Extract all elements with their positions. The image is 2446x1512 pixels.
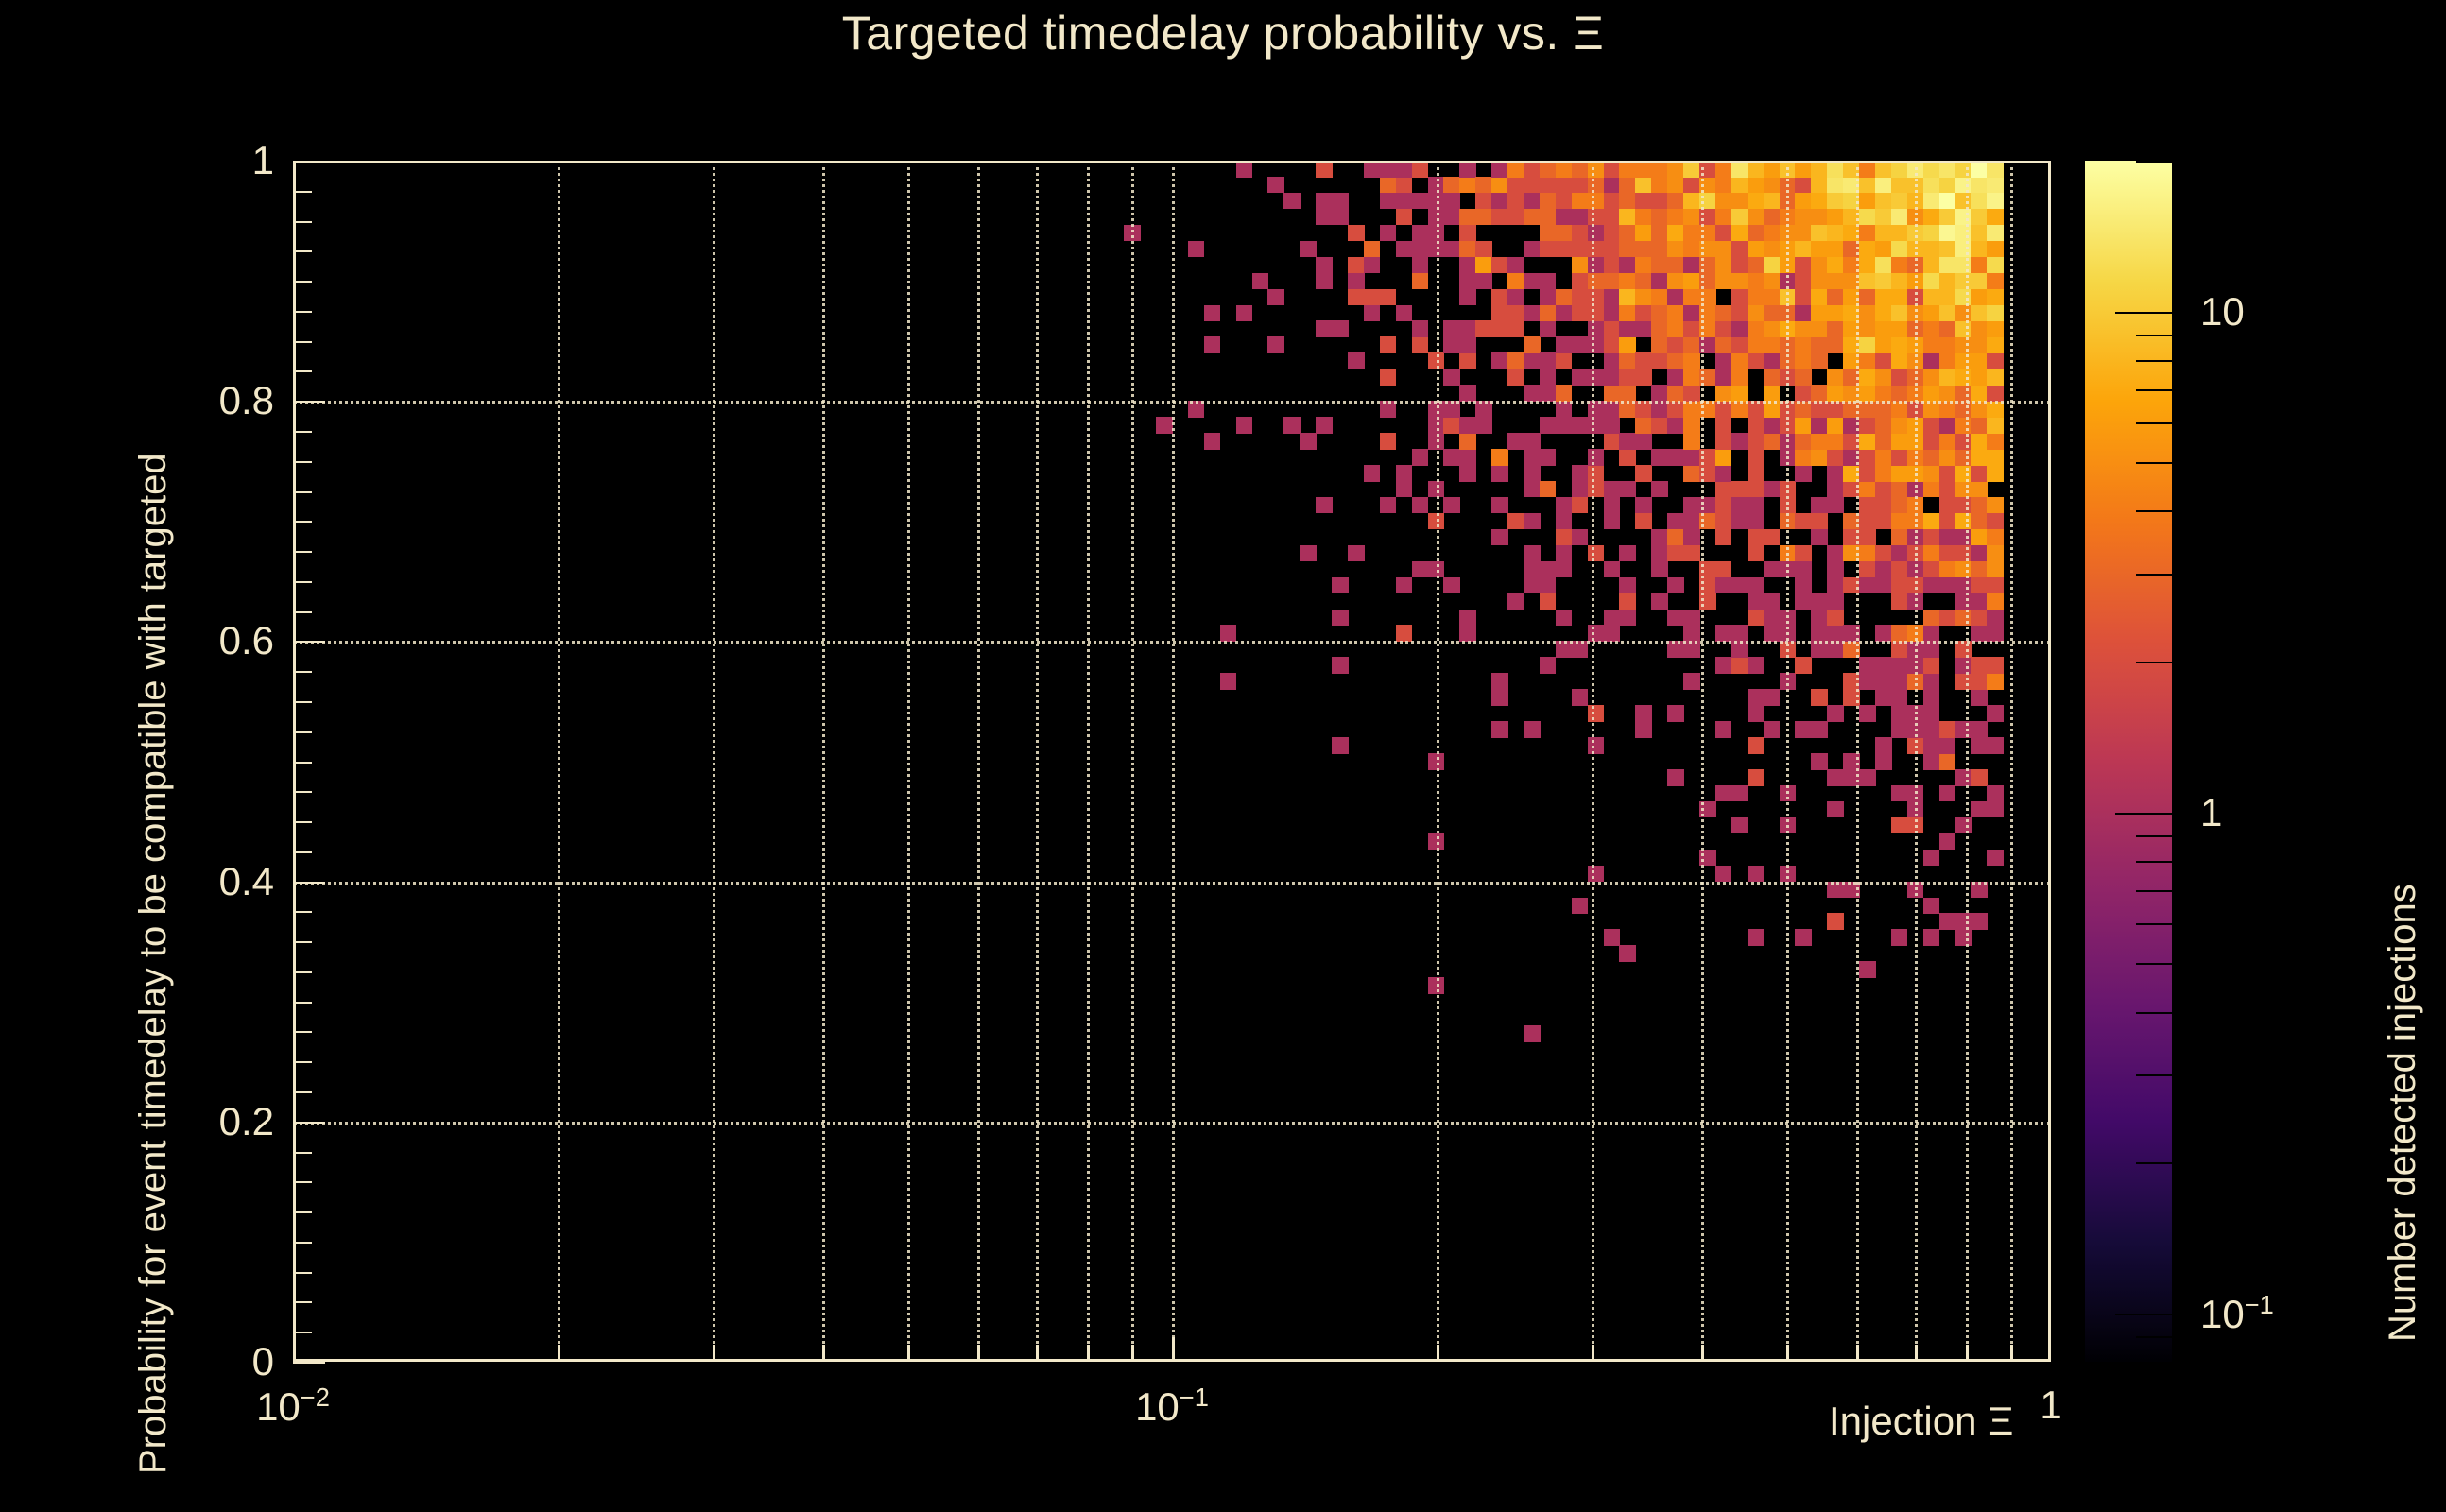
heatmap-cell (1715, 352, 1732, 369)
heatmap-cell (1764, 593, 1781, 610)
y-axis-tick (293, 1272, 312, 1274)
heatmap-cell (1811, 289, 1828, 306)
heatmap-cell (1827, 801, 1844, 818)
heatmap-cell (1540, 177, 1557, 194)
heatmap-cell (1588, 193, 1605, 210)
heatmap-cell (1588, 289, 1605, 306)
heatmap-cell (1971, 433, 1988, 450)
heatmap-cell (1412, 449, 1429, 466)
heatmap-cell (1827, 209, 1844, 226)
heatmap-cell (1731, 177, 1748, 194)
heatmap-cell (1987, 369, 2004, 386)
heatmap-cell (1875, 352, 1892, 369)
heatmap-cell (1891, 193, 1908, 210)
heatmap-cell (1891, 241, 1908, 258)
heatmap-cell (1491, 305, 1508, 322)
plot-canvas: Targeted timedelay probability vs. Ξ Pro… (0, 0, 2446, 1512)
heatmap-cell (1332, 209, 1349, 226)
heatmap-cell (1204, 305, 1221, 322)
heatmap-cell (1667, 369, 1684, 386)
heatmap-cell (1859, 385, 1876, 402)
heatmap-cell (1715, 225, 1732, 242)
heatmap-cell (1987, 352, 2004, 369)
heatmap-cell (1987, 513, 2004, 530)
heatmap-cell (1572, 417, 1589, 434)
colorbar-tick-label: 10 (2200, 289, 2245, 335)
y-axis-tick (293, 941, 312, 943)
y-axis-tick (293, 1242, 312, 1244)
heatmap-cell (1875, 545, 1892, 562)
heatmap-cell (1683, 177, 1700, 194)
heatmap-cell (1859, 369, 1876, 386)
heatmap-cell (1827, 465, 1844, 482)
heatmap-cell (1683, 336, 1700, 353)
heatmap-cell (1827, 241, 1844, 258)
heatmap-cell (1987, 465, 2004, 482)
heatmap-cell (1811, 352, 1828, 369)
y-axis-tick (293, 1301, 312, 1303)
heatmap-cell (1491, 209, 1508, 226)
heatmap-cell (1731, 785, 1748, 802)
heatmap-cell (1715, 369, 1732, 386)
colorbar-tick (2136, 422, 2172, 424)
heatmap-cell (1891, 257, 1908, 274)
heatmap-cell (1827, 625, 1844, 642)
heatmap-cell (1875, 433, 1892, 450)
heatmap-cell (1939, 209, 1956, 226)
heatmap-cell (1459, 336, 1476, 353)
heatmap-cell (1619, 305, 1636, 322)
heatmap-cell (1923, 657, 1940, 674)
heatmap-cell (1811, 593, 1828, 610)
heatmap-cell (1971, 593, 1988, 610)
heatmap-cell (1667, 305, 1684, 322)
heatmap-cell (1667, 273, 1684, 290)
y-axis-tick (293, 581, 312, 583)
heatmap-cell (1651, 273, 1668, 290)
colorbar-tick (2136, 574, 2172, 576)
heatmap-cell (1332, 577, 1349, 594)
heatmap-cell (1651, 561, 1668, 578)
heatmap-cell (1683, 625, 1700, 642)
heatmap-cell (1987, 177, 2004, 194)
heatmap-cell (1764, 352, 1781, 369)
heatmap-cell (1731, 257, 1748, 274)
heatmap-cell (1811, 497, 1828, 514)
heatmap-cell (1588, 481, 1605, 498)
heatmap-cell (1939, 225, 1956, 242)
grid-line-vertical (1701, 161, 1704, 1362)
heatmap-cell (1811, 433, 1828, 450)
heatmap-cell (1715, 866, 1732, 883)
heatmap-cell (1651, 449, 1668, 466)
heatmap-cell (1955, 305, 1972, 322)
heatmap-cell (1635, 513, 1652, 530)
heatmap-cell (1923, 753, 1940, 770)
heatmap-cell (1651, 352, 1668, 369)
heatmap-cell (1731, 625, 1748, 642)
heatmap-cell (1572, 898, 1589, 915)
heatmap-cell (1459, 273, 1476, 290)
heatmap-cell (1491, 289, 1508, 306)
heatmap-cell (1859, 305, 1876, 322)
heatmap-cell (1971, 449, 1988, 466)
colorbar-tick (2136, 360, 2172, 362)
heatmap-cell (1764, 209, 1781, 226)
heatmap-cell (1524, 336, 1541, 353)
heatmap-cell (1955, 481, 1972, 498)
heatmap-cell (1748, 866, 1765, 883)
heatmap-cell (1507, 305, 1524, 322)
heatmap-cell (1971, 289, 1988, 306)
heatmap-cell (1748, 497, 1765, 514)
heatmap-cell (1795, 593, 1812, 610)
heatmap-cell (1667, 320, 1684, 337)
heatmap-cell (1891, 929, 1908, 946)
heatmap-cell (1283, 193, 1301, 210)
heatmap-cell (1827, 193, 1844, 210)
heatmap-cell (1651, 529, 1668, 546)
heatmap-cell (1795, 209, 1812, 226)
heatmap-cell (1507, 177, 1524, 194)
heatmap-cell (1619, 273, 1636, 290)
heatmap-cell (1348, 257, 1365, 274)
heatmap-cell (1683, 320, 1700, 337)
heatmap-cell (1267, 289, 1284, 306)
heatmap-cell (1635, 721, 1652, 738)
heatmap-cell (1748, 657, 1765, 674)
heatmap-cell (1683, 305, 1700, 322)
heatmap-cell (1811, 449, 1828, 466)
heatmap-cell (1987, 657, 2004, 674)
heatmap-cell (1604, 481, 1621, 498)
heatmap-cell (1971, 769, 1988, 786)
heatmap-cell (1795, 433, 1812, 450)
y-tick-label: 0.4 (123, 859, 274, 904)
heatmap-cell (1412, 257, 1429, 274)
heatmap-cell (1764, 625, 1781, 642)
heatmap-cell (1955, 673, 1972, 690)
heatmap-cell (1667, 529, 1684, 546)
heatmap-cell (1923, 336, 1940, 353)
heatmap-cell (1827, 577, 1844, 594)
heatmap-cell (1971, 721, 1988, 738)
heatmap-cell (1987, 209, 2004, 226)
x-tick-label: 10−2 (256, 1383, 330, 1430)
heatmap-cell (1859, 545, 1876, 562)
heatmap-cell (1827, 610, 1844, 627)
colorbar-tick (2136, 389, 2172, 391)
heatmap-cell (1412, 497, 1429, 514)
heatmap-cell (1827, 177, 1844, 194)
heatmap-cell (1875, 273, 1892, 290)
heatmap-cell (1651, 481, 1668, 498)
heatmap-cell (1540, 481, 1557, 498)
heatmap-cell (1891, 497, 1908, 514)
y-axis-tick (293, 762, 312, 764)
heatmap-cell (1283, 417, 1301, 434)
heatmap-cell (1396, 305, 1413, 322)
heatmap-cell (1955, 417, 1972, 434)
heatmap-cell (1459, 385, 1476, 402)
heatmap-cell (1731, 320, 1748, 337)
heatmap-cell (1923, 673, 1940, 690)
heatmap-cell (1811, 513, 1828, 530)
axis-right (2048, 161, 2051, 1362)
heatmap-cell (1459, 209, 1476, 226)
heatmap-cell (1475, 273, 1492, 290)
heatmap-cell (1604, 385, 1621, 402)
heatmap-cell (1667, 352, 1684, 369)
heatmap-cell (1588, 417, 1605, 434)
heatmap-cell (1588, 545, 1605, 562)
heatmap-cell (1619, 336, 1636, 353)
heatmap-cell (1748, 352, 1765, 369)
heatmap-cell (1540, 289, 1557, 306)
heatmap-cell (1715, 449, 1732, 466)
heatmap-cell (1619, 577, 1636, 594)
heatmap-cell (1891, 336, 1908, 353)
heatmap-cell (1556, 513, 1573, 530)
heatmap-cell (1748, 225, 1765, 242)
heatmap-cell (1683, 257, 1700, 274)
colorbar-tick (2136, 963, 2172, 965)
heatmap-cell (1748, 929, 1765, 946)
heatmap-cell (1764, 481, 1781, 498)
heatmap-cell (1939, 610, 1956, 627)
heatmap-cell (1667, 449, 1684, 466)
heatmap-cell (1811, 385, 1828, 402)
heatmap-cell (1955, 177, 1972, 194)
heatmap-cell (1955, 561, 1972, 578)
heatmap-cell (1955, 385, 1972, 402)
heatmap-cell (1683, 545, 1700, 562)
colorbar-tick-label: 10−1 (2200, 1290, 2274, 1337)
heatmap-cell (1987, 737, 2004, 754)
heatmap-cell (1827, 433, 1844, 450)
heatmap-cell (1731, 209, 1748, 226)
heatmap-cell (1987, 241, 2004, 258)
y-tick-label: 0.8 (123, 378, 274, 423)
heatmap-cell (1635, 433, 1652, 450)
grid-line-vertical (1172, 161, 1175, 1362)
heatmap-cell (1939, 785, 1956, 802)
heatmap-cell (1316, 273, 1333, 290)
heatmap-cell (1827, 769, 1844, 786)
x-tick-label: 10−1 (1135, 1383, 1209, 1430)
heatmap-cell (1764, 241, 1781, 258)
heatmap-cell (1971, 417, 1988, 434)
heatmap-cell (1443, 177, 1460, 194)
heatmap-cell (1507, 193, 1524, 210)
heatmap-cell (1923, 737, 1940, 754)
heatmap-cell (1875, 417, 1892, 434)
heatmap-cell (1891, 289, 1908, 306)
heatmap-cell (1635, 352, 1652, 369)
heatmap-cell (1891, 320, 1908, 337)
heatmap-cell (1396, 465, 1413, 482)
grid-line-vertical (1966, 161, 1969, 1362)
heatmap-cell (1859, 209, 1876, 226)
heatmap-cell (1443, 449, 1460, 466)
heatmap-cell (1540, 193, 1557, 210)
heatmap-cell (1683, 513, 1700, 530)
heatmap-cell (1316, 193, 1333, 210)
heatmap-cell (1891, 481, 1908, 498)
heatmap-cell (1875, 369, 1892, 386)
heatmap-cell (1188, 241, 1205, 258)
heatmap-cell (1748, 577, 1765, 594)
heatmap-cell (1459, 289, 1476, 306)
heatmap-cell (1795, 289, 1812, 306)
heatmap-cell (1588, 305, 1605, 322)
heatmap-cell (1859, 561, 1876, 578)
heatmap-cell (1955, 817, 1972, 834)
heatmap-cell (1507, 273, 1524, 290)
heatmap-cell (1635, 241, 1652, 258)
y-axis-tick (293, 882, 325, 884)
heatmap-cell (1795, 241, 1812, 258)
heatmap-cell (1891, 305, 1908, 322)
heatmap-cell (1731, 513, 1748, 530)
heatmap-cell (1683, 529, 1700, 546)
heatmap-cell (1556, 193, 1573, 210)
heatmap-cell (1923, 898, 1940, 915)
heatmap-cell (1316, 497, 1333, 514)
heatmap-cell (1635, 193, 1652, 210)
heatmap-cell (1459, 225, 1476, 242)
heatmap-cell (1683, 352, 1700, 369)
y-axis-tick (293, 250, 312, 252)
heatmap-cell (1731, 241, 1748, 258)
heatmap-cell (1604, 336, 1621, 353)
heatmap-cell (1651, 305, 1668, 322)
heatmap-cell (1971, 801, 1988, 818)
heatmap-cell (1923, 529, 1940, 546)
heatmap-cell (1811, 721, 1828, 738)
heatmap-cell (1635, 289, 1652, 306)
heatmap-cell (1524, 721, 1541, 738)
heatmap-cell (1572, 305, 1589, 322)
heatmap-cell (1795, 513, 1812, 530)
heatmap-cell (1507, 209, 1524, 226)
heatmap-cell (1683, 241, 1700, 258)
grid-line-horizontal (293, 641, 2051, 644)
heatmap-cell (1987, 417, 2004, 434)
heatmap-cell (1987, 385, 2004, 402)
heatmap-cell (1619, 225, 1636, 242)
heatmap-cell (1588, 320, 1605, 337)
heatmap-cell (1827, 320, 1844, 337)
heatmap-cell (1252, 273, 1269, 290)
colorbar-tick (2136, 1336, 2172, 1338)
heatmap-cell (1811, 193, 1828, 210)
heatmap-cell (1715, 561, 1732, 578)
heatmap-cell (1859, 336, 1876, 353)
heatmap-cell (1715, 657, 1732, 674)
heatmap-cell (1859, 961, 1876, 978)
heatmap-cell (1715, 529, 1732, 546)
heatmap-cell (1748, 433, 1765, 450)
y-axis-tick (293, 191, 312, 193)
heatmap-cell (1859, 289, 1876, 306)
heatmap-cell (1955, 433, 1972, 450)
heatmap-cell (1572, 257, 1589, 274)
heatmap-cell (1651, 417, 1668, 434)
heatmap-cell (1987, 529, 2004, 546)
heatmap-cell (1811, 320, 1828, 337)
heatmap-cell (1667, 769, 1684, 786)
heatmap-cell (1667, 225, 1684, 242)
heatmap-cell (1715, 785, 1732, 802)
heatmap-cell (1811, 241, 1828, 258)
heatmap-cell (1987, 433, 2004, 450)
heatmap-cell (1443, 193, 1460, 210)
heatmap-cell (1748, 593, 1765, 610)
heatmap-cell (1923, 305, 1940, 322)
heatmap-cell (1491, 352, 1508, 369)
heatmap-cell (1923, 610, 1940, 627)
grid-line-vertical (713, 161, 715, 1362)
heatmap-cell (1748, 336, 1765, 353)
heatmap-cell (1572, 529, 1589, 546)
heatmap-cell (1939, 721, 1956, 738)
y-axis-tick (293, 851, 312, 853)
heatmap-cell (1651, 225, 1668, 242)
heatmap-cell (1348, 352, 1365, 369)
grid-line-vertical (558, 161, 560, 1362)
heatmap-cell (1572, 689, 1589, 706)
heatmap-cell (1891, 705, 1908, 722)
heatmap-cell (1619, 193, 1636, 210)
heatmap-cell (1827, 289, 1844, 306)
heatmap-cell (1748, 529, 1765, 546)
heatmap-cell (1588, 209, 1605, 226)
heatmap-cell (1939, 417, 1956, 434)
heatmap-cell (1764, 417, 1781, 434)
heatmap-cell (1955, 465, 1972, 482)
heatmap-cell (1604, 513, 1621, 530)
heatmap-cell (1875, 465, 1892, 482)
heatmap-cell (1380, 225, 1397, 242)
heatmap-cell (1204, 336, 1221, 353)
heatmap-cell (1827, 273, 1844, 290)
heatmap-cell (1412, 320, 1429, 337)
y-axis-tick (293, 611, 312, 613)
heatmap-cell (1540, 385, 1557, 402)
y-axis-tick (293, 461, 312, 463)
heatmap-cell (1795, 273, 1812, 290)
heatmap-cell (1811, 336, 1828, 353)
heatmap-cell (1604, 433, 1621, 450)
heatmap-cell (1715, 305, 1732, 322)
heatmap-cell (1764, 273, 1781, 290)
heatmap-cell (1556, 545, 1573, 562)
heatmap-cell (1459, 177, 1476, 194)
heatmap-cell (1540, 305, 1557, 322)
heatmap-cell (1971, 177, 1988, 194)
heatmap-cell (1764, 721, 1781, 738)
heatmap-cell (1811, 417, 1828, 434)
heatmap-cell (1795, 929, 1812, 946)
heatmap-cell (1300, 545, 1317, 562)
heatmap-cell (1859, 497, 1876, 514)
heatmap-cell (1875, 209, 1892, 226)
heatmap-cell (1939, 465, 1956, 482)
heatmap-cell (1859, 577, 1876, 594)
heatmap-cell (1380, 433, 1397, 450)
y-axis-tick (293, 971, 312, 973)
